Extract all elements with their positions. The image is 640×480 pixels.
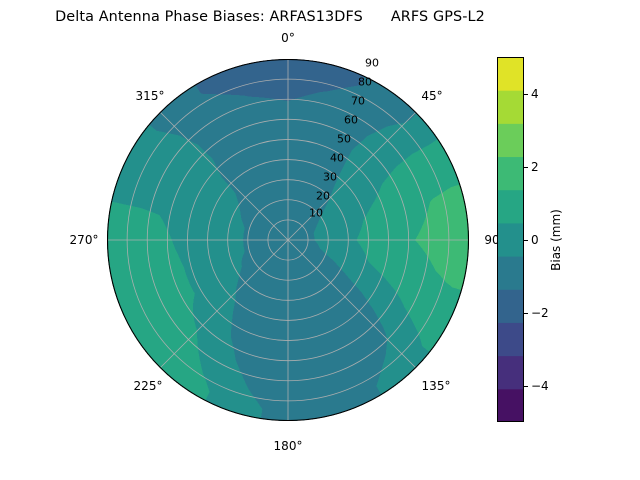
- polar-heatmap-canvas: [107, 59, 469, 421]
- azimuth-tick-label-0: 0°: [281, 31, 295, 45]
- colorbar-tick-mark--2: [524, 313, 528, 314]
- colorbar-tick-label-2: 2: [531, 160, 539, 174]
- matplotlib-figure: Delta Antenna Phase Biases: ARFAS13DFS A…: [0, 0, 640, 480]
- colorbar-tick-mark-2: [524, 167, 528, 168]
- radial-tick-label-50: 50: [337, 133, 351, 146]
- colorbar-axis-label: Bias (mm): [549, 209, 563, 271]
- azimuth-tick-label-270: 270°: [70, 233, 99, 247]
- azimuth-tick-label-315: 315°: [136, 89, 165, 103]
- azimuth-tick-label-45: 45°: [421, 89, 442, 103]
- radial-tick-label-60: 60: [344, 114, 358, 127]
- radial-tick-label-30: 30: [323, 171, 337, 184]
- radial-tick-label-70: 70: [351, 95, 365, 108]
- colorbar-gradient: [497, 57, 524, 422]
- azimuth-tick-label-225: 225°: [134, 379, 163, 393]
- colorbar: [497, 57, 524, 422]
- colorbar-tick-label-0: 0: [531, 233, 539, 247]
- radial-tick-label-10: 10: [309, 207, 323, 220]
- azimuth-tick-label-180: 180°: [274, 439, 303, 453]
- colorbar-tick-mark-0: [524, 240, 528, 241]
- colorbar-tick-label--4: −4: [531, 379, 549, 393]
- colorbar-tick-mark-4: [524, 94, 528, 95]
- polar-axes: [107, 59, 469, 421]
- radial-tick-label-40: 40: [330, 152, 344, 165]
- colorbar-tick-label-4: 4: [531, 87, 539, 101]
- figure-title: Delta Antenna Phase Biases: ARFAS13DFS A…: [0, 9, 540, 25]
- radial-tick-label-20: 20: [316, 190, 330, 203]
- azimuth-tick-label-135: 135°: [422, 379, 451, 393]
- colorbar-tick-label--2: −2: [531, 306, 549, 320]
- radial-tick-label-90: 90: [365, 57, 379, 70]
- radial-tick-label-80: 80: [358, 76, 372, 89]
- colorbar-tick-mark--4: [524, 386, 528, 387]
